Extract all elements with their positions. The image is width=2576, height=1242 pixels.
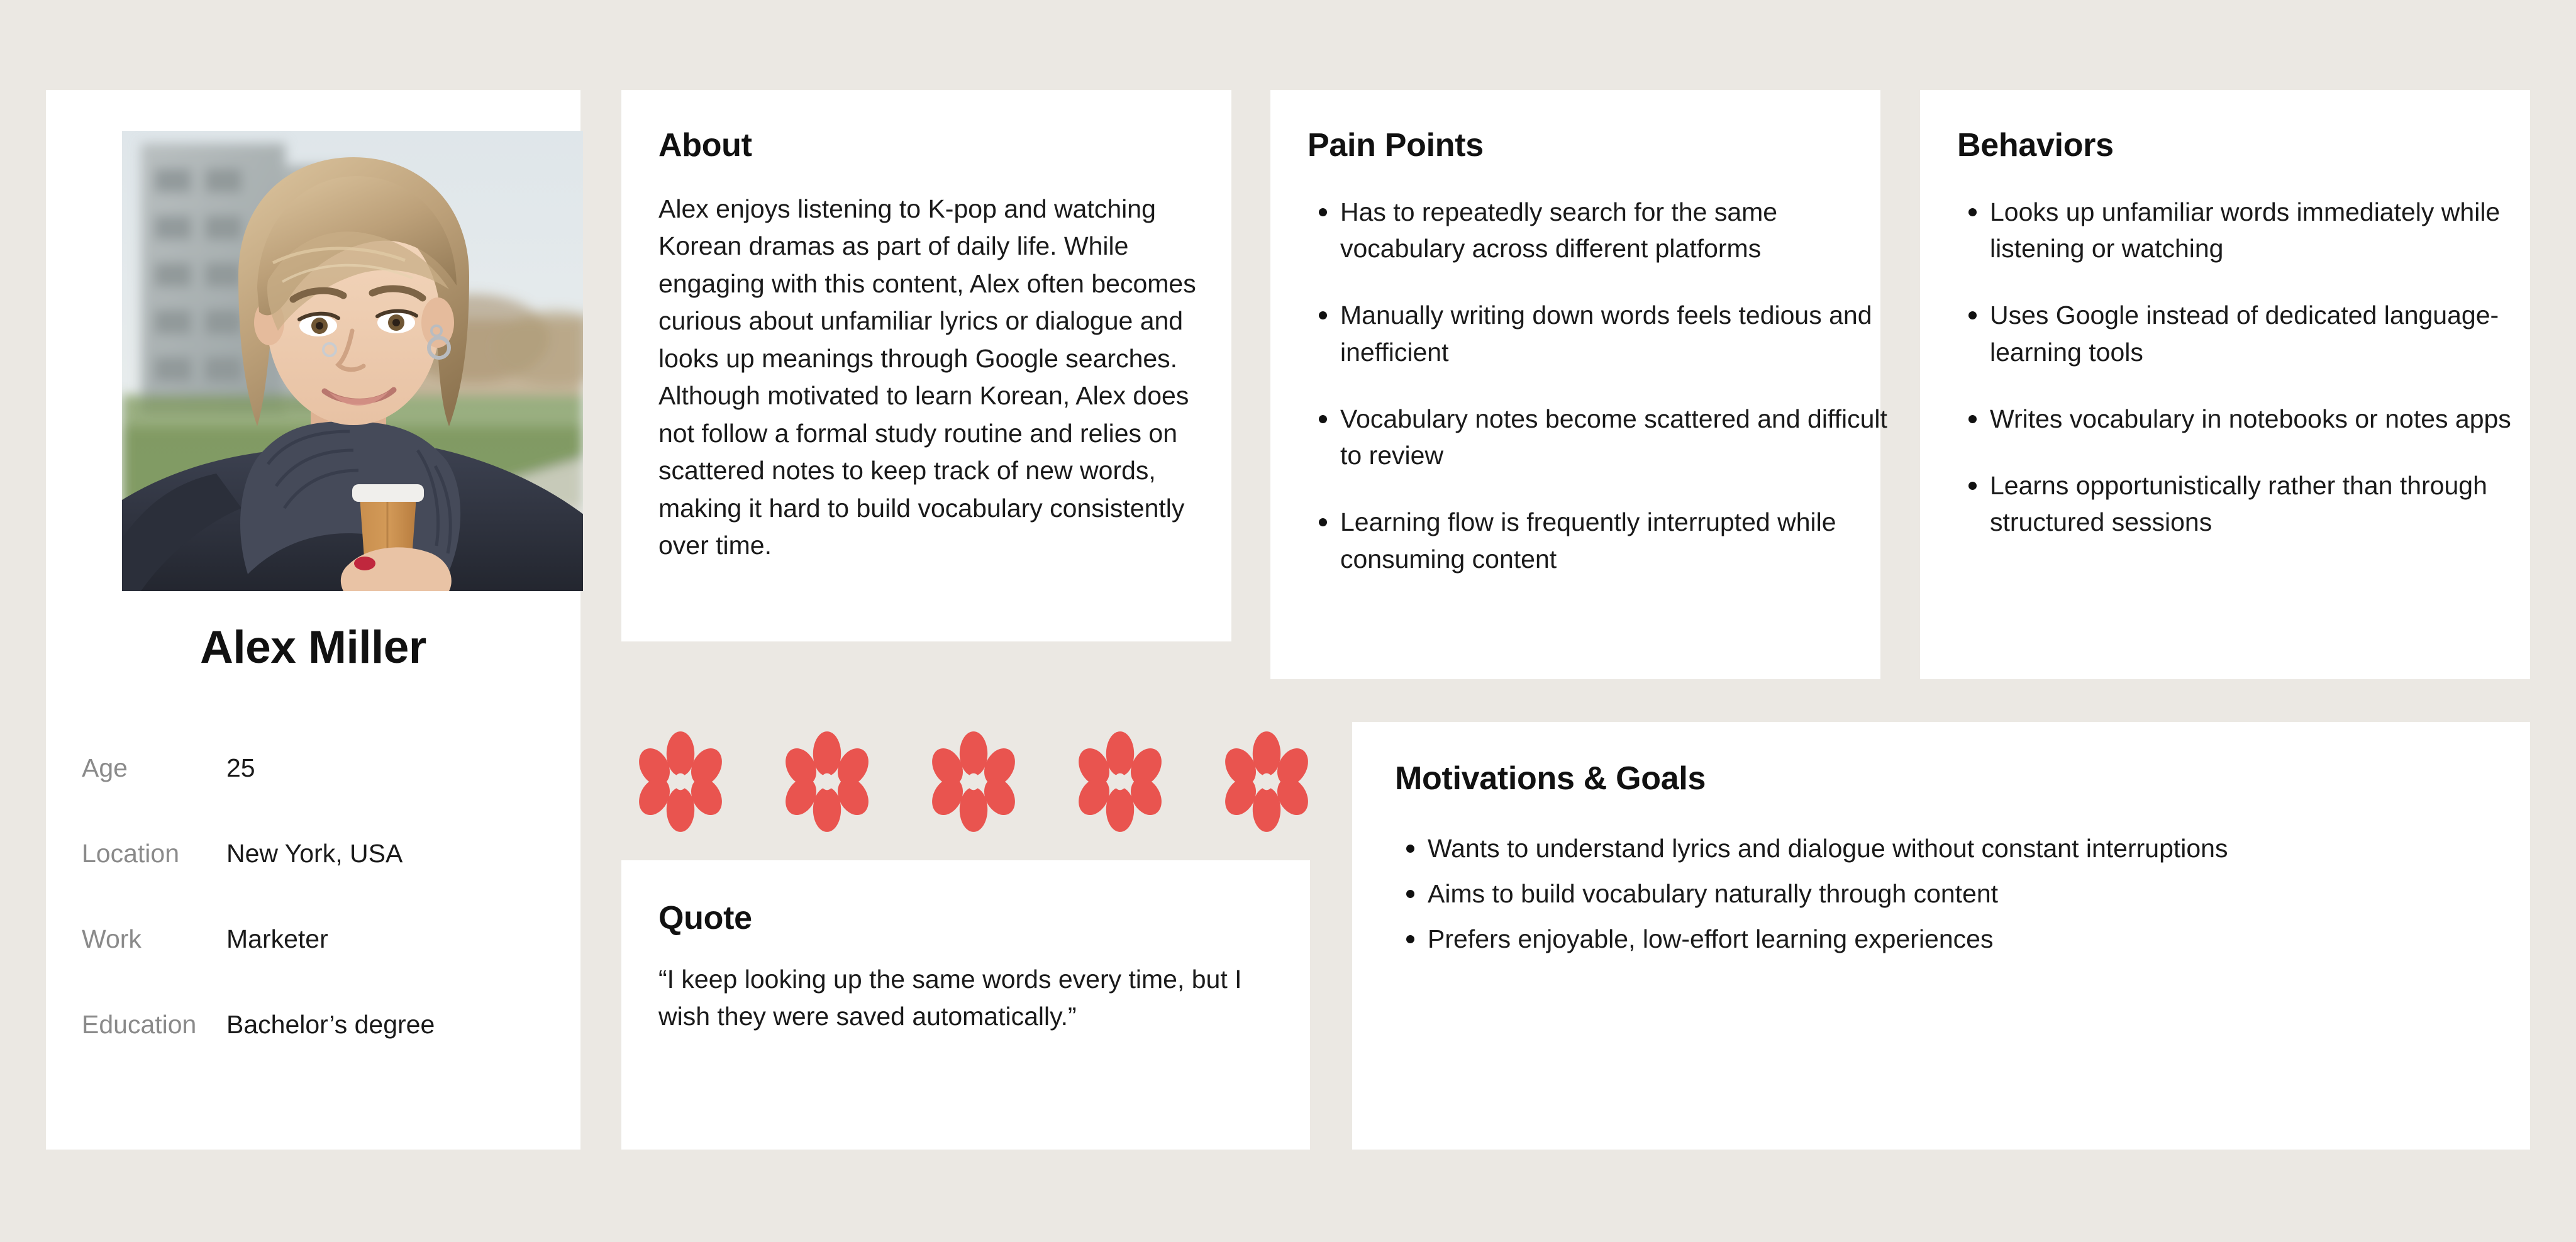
pain-points-list: Has to repeatedly search for the same vo… — [1307, 194, 1887, 577]
flower-icon — [634, 731, 727, 832]
quote-text: “I keep looking up the same words every … — [658, 961, 1275, 1036]
pain-points-card: Pain Points Has to repeatedly search for… — [1270, 90, 1880, 679]
about-body: Alex enjoys listening to K-pop and watch… — [658, 191, 1196, 564]
list-item: Vocabulary notes become scattered and di… — [1340, 401, 1887, 474]
flower-icon — [1220, 731, 1313, 832]
detail-value: New York, USA — [226, 839, 402, 868]
quote-card: Quote “I keep looking up the same words … — [621, 860, 1310, 1150]
avatar — [122, 131, 583, 591]
profile-card: Alex Miller Age 25 Location New York, US… — [46, 90, 580, 1150]
behaviors-title: Behaviors — [1957, 126, 2114, 164]
list-item: Learning flow is frequently interrupted … — [1340, 504, 1887, 577]
motivations-list: Wants to understand lyrics and dialogue … — [1395, 830, 2522, 967]
detail-label: Education — [82, 1010, 226, 1040]
detail-row-age: Age 25 — [82, 753, 560, 839]
list-item: Learns opportunistically rather than thr… — [1990, 467, 2543, 540]
detail-value: Marketer — [226, 924, 328, 954]
detail-label: Age — [82, 753, 226, 783]
list-item: Uses Google instead of dedicated languag… — [1990, 297, 2543, 370]
quote-title: Quote — [658, 899, 752, 937]
detail-row-education: Education Bachelor’s degree — [82, 1010, 560, 1095]
behaviors-list: Looks up unfamiliar words immediately wh… — [1957, 194, 2543, 541]
motivations-goals-card: Motivations & Goals Wants to understand … — [1352, 722, 2530, 1150]
list-item: Aims to build vocabulary naturally throu… — [1428, 875, 2522, 912]
about-card: About Alex enjoys listening to K-pop and… — [621, 90, 1231, 641]
flower-icon — [1074, 731, 1167, 832]
persona-page: Alex Miller Age 25 Location New York, US… — [0, 0, 2576, 1242]
list-item: Looks up unfamiliar words immediately wh… — [1990, 194, 2543, 267]
list-item: Manually writing down words feels tediou… — [1340, 297, 1887, 370]
flower-icon — [927, 731, 1020, 832]
list-item: Wants to understand lyrics and dialogue … — [1428, 830, 2522, 867]
profile-details: Age 25 Location New York, USA Work Marke… — [82, 753, 560, 1095]
list-item: Has to repeatedly search for the same vo… — [1340, 194, 1887, 267]
flower-decoration-row — [621, 722, 1310, 841]
detail-label: Location — [82, 839, 226, 868]
detail-label: Work — [82, 924, 226, 954]
pain-points-title: Pain Points — [1307, 126, 1484, 164]
page-title: Alex Miller — [46, 621, 580, 674]
detail-row-work: Work Marketer — [82, 924, 560, 1010]
detail-value: Bachelor’s degree — [226, 1010, 435, 1040]
flower-icon — [780, 731, 874, 832]
portrait-illustration — [122, 131, 583, 591]
motivations-title: Motivations & Goals — [1395, 760, 1706, 797]
detail-value: 25 — [226, 753, 255, 783]
list-item: Prefers enjoyable, low-effort learning e… — [1428, 921, 2522, 957]
behaviors-card: Behaviors Looks up unfamiliar words imme… — [1920, 90, 2530, 679]
about-title: About — [658, 126, 752, 164]
detail-row-location: Location New York, USA — [82, 839, 560, 924]
list-item: Writes vocabulary in notebooks or notes … — [1990, 401, 2543, 437]
